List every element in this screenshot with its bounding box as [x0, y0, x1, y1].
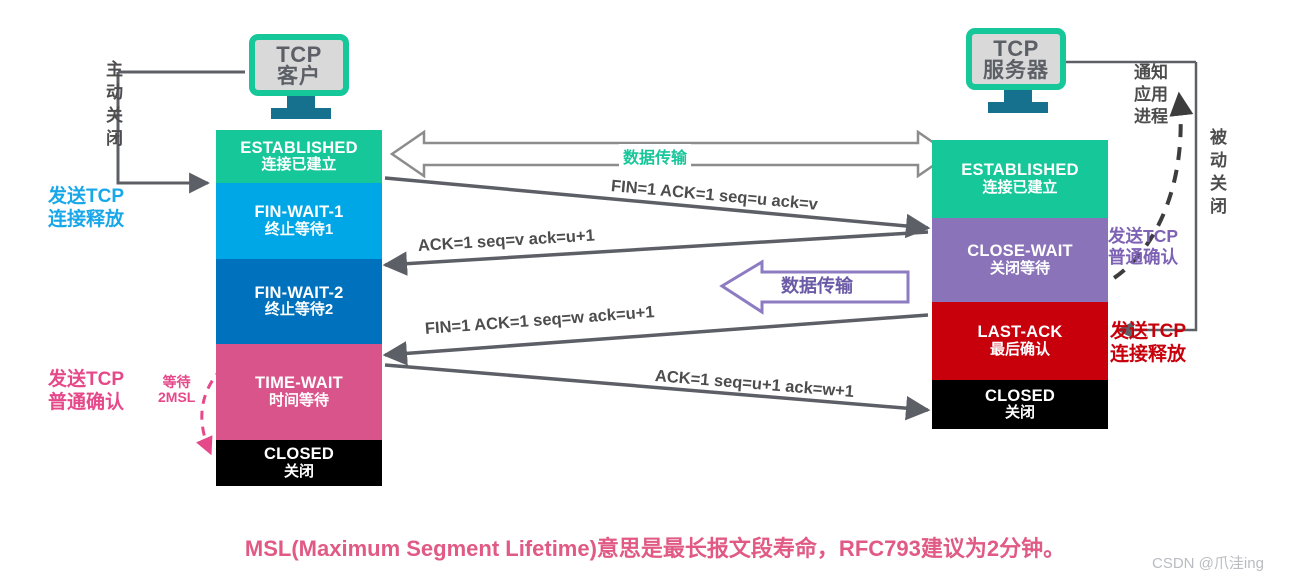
state-name-cn: 关闭	[284, 464, 314, 480]
state-name: TIME-WAIT	[255, 375, 343, 393]
annotation-line-2: 连接释放	[1110, 343, 1186, 366]
client-screen: TCP 客户	[249, 34, 349, 96]
server-send-release-annotation: 发送TCP 连接释放	[1110, 320, 1186, 366]
state-name-cn: 关闭等待	[990, 261, 1050, 277]
notify-app-annotation: 通知 应用 进程	[1134, 62, 1168, 127]
notify-line-3: 进程	[1134, 106, 1168, 128]
client-stand-neck	[287, 96, 315, 108]
server-stand-neck	[1004, 90, 1032, 102]
annotation-line-1: 发送TCP	[1108, 226, 1178, 247]
server-state-column: ESTABLISHED 连接已建立 CLOSE-WAIT 关闭等待 LAST-A…	[932, 140, 1108, 429]
server-screen: TCP 服务器	[966, 28, 1066, 90]
state-name-cn: 最后确认	[990, 342, 1050, 358]
state-name: ESTABLISHED	[240, 140, 357, 158]
wait-2msl-line-2: 2MSL	[158, 390, 195, 405]
client-state-established: ESTABLISHED 连接已建立	[216, 130, 382, 183]
state-name-cn: 终止等待1	[265, 222, 333, 238]
client-icon-subtitle: 客户	[277, 66, 321, 87]
server-state-closed: CLOSED 关闭	[932, 380, 1108, 429]
tcp-teardown-diagram: TCP 客户 TCP 服务器 ESTABLISHED 连接已建立 FIN-WAI…	[0, 0, 1310, 582]
state-name-cn: 连接已建立	[261, 157, 336, 173]
client-send-ack-annotation: 发送TCP 普通确认	[48, 368, 124, 414]
msl-caption: MSL(Maximum Segment Lifetime)意思是最长报文段寿命，…	[0, 531, 1310, 563]
state-name-cn: 关闭	[1005, 405, 1035, 421]
state-name: FIN-WAIT-1	[254, 204, 343, 222]
csdn-watermark: CSDN @爪洼ing	[1152, 552, 1264, 573]
data-transfer-mid-label: 数据传输	[781, 272, 853, 298]
state-name: CLOSED	[985, 388, 1055, 406]
notify-line-2: 应用	[1134, 84, 1168, 106]
server-stand-base	[988, 102, 1048, 113]
client-state-fin-wait-1: FIN-WAIT-1 终止等待1	[216, 183, 382, 259]
state-name: CLOSE-WAIT	[967, 243, 1073, 261]
client-stand-base	[271, 108, 331, 119]
state-name-cn: 时间等待	[269, 393, 329, 409]
state-name: LAST-ACK	[977, 324, 1062, 342]
state-name: ESTABLISHED	[961, 162, 1078, 180]
wait-2msl-label: 等待 2MSL	[158, 375, 195, 404]
annotation-line-2: 连接释放	[48, 208, 124, 231]
client-state-time-wait: TIME-WAIT 时间等待	[216, 344, 382, 440]
state-name-cn: 连接已建立	[982, 180, 1057, 196]
annotation-line-2: 普通确认	[1108, 247, 1178, 268]
client-icon-title: TCP	[276, 44, 322, 66]
wait-2msl-line-1: 等待	[158, 375, 195, 390]
server-state-last-ack: LAST-ACK 最后确认	[932, 302, 1108, 380]
client-send-release-annotation: 发送TCP 连接释放	[48, 185, 124, 231]
client-state-column: ESTABLISHED 连接已建立 FIN-WAIT-1 终止等待1 FIN-W…	[216, 130, 382, 486]
client-state-fin-wait-2: FIN-WAIT-2 终止等待2	[216, 259, 382, 344]
connector-layer	[0, 0, 1310, 582]
tcp-server-host-icon: TCP 服务器	[966, 28, 1070, 113]
state-name: CLOSED	[264, 446, 334, 464]
client-active-close-label: 主动关闭	[104, 60, 121, 152]
server-send-ack-annotation: 发送TCP 普通确认	[1108, 226, 1178, 269]
server-icon-subtitle: 服务器	[983, 60, 1049, 81]
server-icon-title: TCP	[993, 38, 1039, 60]
annotation-line-1: 发送TCP	[48, 368, 124, 391]
data-transfer-top-label: 数据传输	[619, 144, 691, 168]
tcp-client-host-icon: TCP 客户	[249, 34, 353, 119]
server-passive-close-label: 被动关闭	[1208, 128, 1225, 220]
state-name: FIN-WAIT-2	[254, 285, 343, 303]
client-active-close-bracket	[118, 72, 208, 183]
annotation-line-2: 普通确认	[48, 391, 124, 414]
annotation-line-1: 发送TCP	[1110, 320, 1186, 343]
state-name-cn: 终止等待2	[265, 302, 333, 318]
annotation-line-1: 发送TCP	[48, 185, 124, 208]
server-state-established: ESTABLISHED 连接已建立	[932, 140, 1108, 218]
notify-line-1: 通知	[1134, 62, 1168, 84]
client-state-closed: CLOSED 关闭	[216, 440, 382, 486]
server-state-close-wait: CLOSE-WAIT 关闭等待	[932, 218, 1108, 302]
